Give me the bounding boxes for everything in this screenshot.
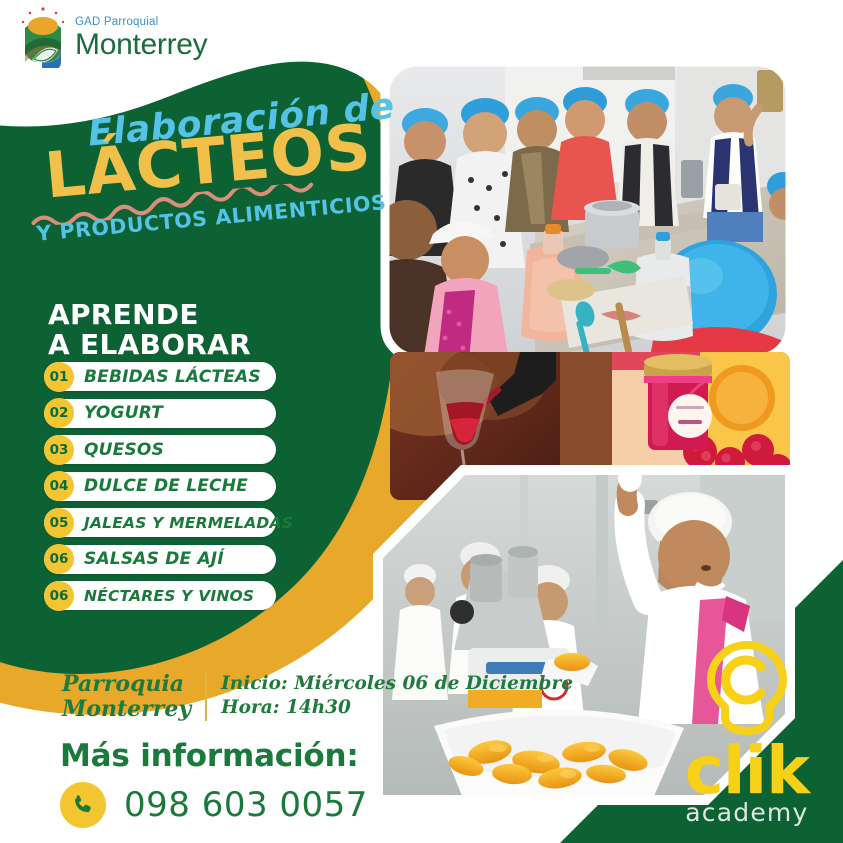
- lightbulb-c-icon: [695, 637, 799, 743]
- list-item[interactable]: 06 NÉCTARES Y VINOS: [44, 581, 276, 610]
- list-item[interactable]: 01 BEBIDAS LÁCTEAS: [44, 362, 276, 391]
- gad-logo[interactable]: GAD Parroquial Monterrey: [18, 6, 207, 68]
- poster-canvas: GAD Parroquial Monterrey Elaboración de …: [0, 0, 843, 843]
- item-number-badge: 02: [44, 398, 74, 428]
- learn-heading-line1: APRENDE: [48, 300, 251, 330]
- list-item[interactable]: 02 YOGURT: [44, 399, 276, 428]
- more-info-heading: Más información:: [60, 738, 359, 774]
- clik-subtitle: academy: [685, 798, 808, 827]
- list-item[interactable]: 05 JALEAS Y MERMELADAS: [44, 508, 276, 537]
- event-time: Hora: 14h30: [221, 696, 573, 720]
- phone-icon: [60, 782, 106, 828]
- list-item-label: QUESOS: [84, 440, 164, 460]
- item-number-badge: 05: [44, 508, 74, 538]
- learn-heading-line2: A ELABORAR: [48, 330, 251, 360]
- event-place-line2: Monterrey: [62, 697, 191, 722]
- event-start-date: Inicio: Miércoles 06 de Diciembre: [221, 672, 573, 696]
- monterrey-crest-icon: [18, 6, 68, 68]
- list-item-label: JALEAS Y MERMELADAS: [84, 514, 293, 532]
- item-number-badge: 01: [44, 362, 74, 392]
- list-item[interactable]: 04 DULCE DE LECHE: [44, 472, 276, 501]
- event-schedule: Inicio: Miércoles 06 de Diciembre Hora: …: [221, 672, 573, 719]
- event-details: Parroquia Monterrey Inicio: Miércoles 06…: [62, 672, 573, 721]
- event-divider: [205, 674, 207, 721]
- item-number-badge: 06: [44, 544, 74, 574]
- contact-phone-row[interactable]: 098 603 0057: [60, 782, 368, 828]
- list-item-label: NÉCTARES Y VINOS: [84, 587, 254, 605]
- list-item-label: SALSAS DE AJÍ: [84, 549, 224, 569]
- clik-wordmark: clik: [685, 743, 809, 800]
- logo-name: Monterrey: [75, 30, 207, 60]
- item-number-badge: 04: [44, 471, 74, 501]
- event-place-line1: Parroquia: [62, 672, 191, 697]
- learn-heading: APRENDE A ELABORAR: [48, 300, 251, 360]
- item-number-badge: 03: [44, 435, 74, 465]
- list-item[interactable]: 06 SALSAS DE AJÍ: [44, 545, 276, 574]
- workshop-group-photo: [355, 62, 801, 400]
- item-number-badge: 06: [44, 581, 74, 611]
- list-item-label: BEBIDAS LÁCTEAS: [84, 367, 261, 387]
- event-place: Parroquia Monterrey: [62, 672, 191, 721]
- course-topics-list: 01 BEBIDAS LÁCTEAS 02 YOGURT 03 QUESOS 0…: [44, 362, 276, 610]
- clik-academy-logo[interactable]: clik academy: [685, 637, 809, 827]
- list-item-label: DULCE DE LECHE: [84, 476, 248, 496]
- phone-number[interactable]: 098 603 0057: [124, 785, 368, 825]
- list-item[interactable]: 03 QUESOS: [44, 435, 276, 464]
- list-item-label: YOGURT: [84, 403, 163, 423]
